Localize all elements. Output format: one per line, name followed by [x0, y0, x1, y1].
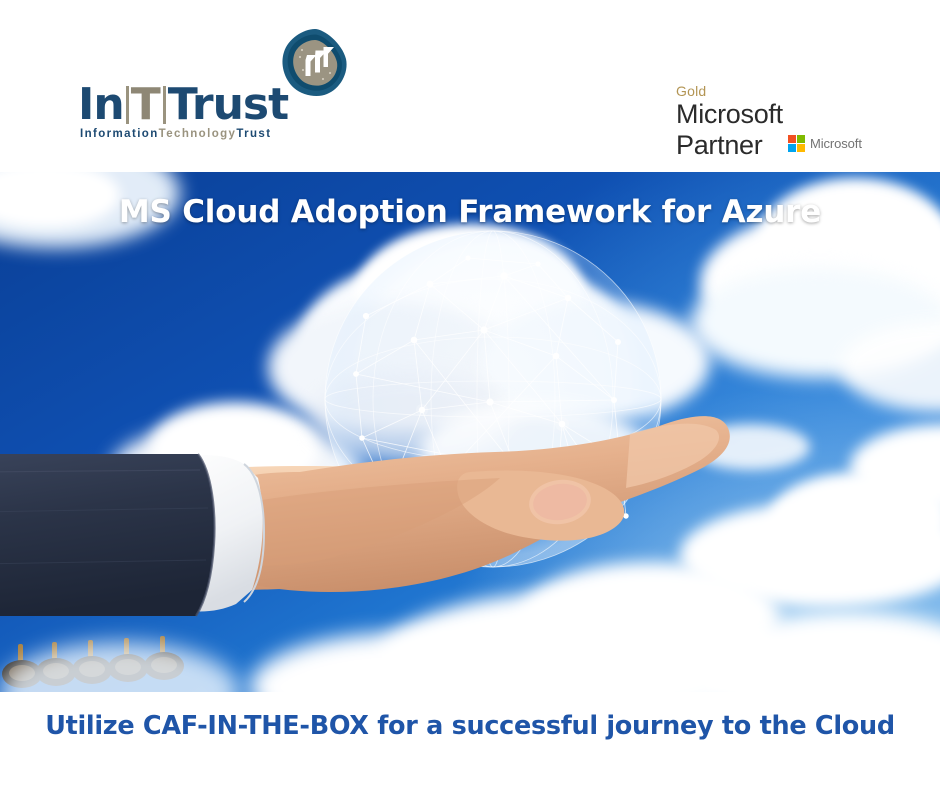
caption-text: Utilize CAF-IN-THE-BOX for a successful …: [0, 711, 940, 741]
header-bar: InTTrust InformationTechnologyTrust Gold…: [0, 0, 940, 172]
microsoft-squares-icon: [788, 135, 805, 152]
logo-wordmark: InTTrust InformationTechnologyTrust: [78, 83, 328, 145]
tagline-trust: Trust: [236, 128, 271, 140]
ms-square-red: [788, 135, 796, 143]
company-logo[interactable]: InTTrust InformationTechnologyTrust: [78, 26, 378, 146]
logo-divider-right: [163, 86, 166, 124]
partner-level-label: Gold: [676, 84, 876, 99]
ms-square-blue: [788, 144, 796, 152]
tagline-information: Information: [80, 128, 159, 140]
microsoft-brand-label: Microsoft: [810, 136, 862, 151]
logo-word-t: T: [131, 79, 161, 130]
microsoft-partner-badge: Gold Microsoft Partner Microsoft: [676, 84, 876, 160]
ms-square-yellow: [797, 144, 805, 152]
hero-title: MS Cloud Adoption Framework for Azure: [0, 194, 940, 230]
tagline-technology: Technology: [159, 128, 237, 140]
ms-square-green: [797, 135, 805, 143]
hero-image: MS Cloud Adoption Framework for Azure: [0, 172, 940, 692]
logo-divider-left: [126, 86, 129, 124]
logo-word-in: In: [78, 79, 124, 130]
slide-page: InTTrust InformationTechnologyTrust Gold…: [0, 0, 940, 788]
logo-tagline: InformationTechnologyTrust: [80, 128, 271, 140]
microsoft-logo: Microsoft: [788, 135, 862, 152]
logo-word-trust: Trust: [168, 79, 288, 130]
logo-wordmark-row: InTTrust: [78, 83, 328, 127]
caption-bar: Utilize CAF-IN-THE-BOX for a successful …: [0, 692, 940, 788]
